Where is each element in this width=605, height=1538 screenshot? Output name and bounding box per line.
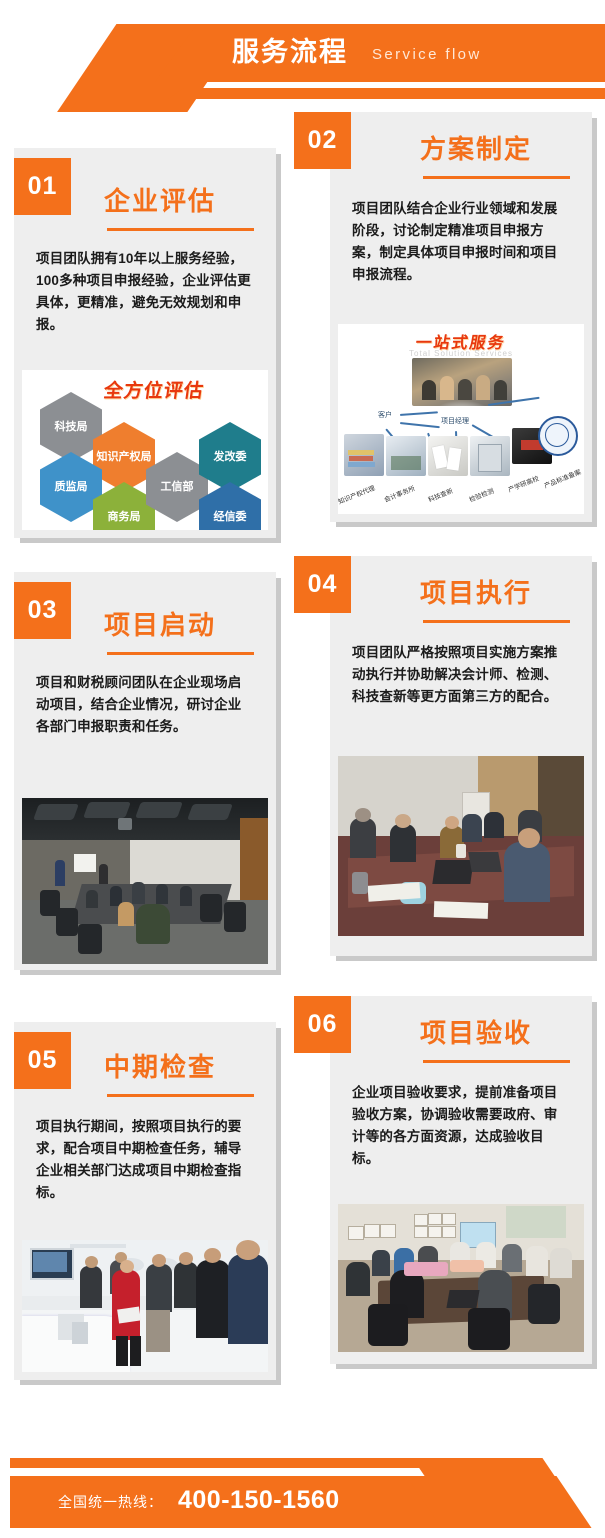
photo-site-inspection (22, 1240, 268, 1372)
hotline-phone[interactable]: 400-150-1560 (178, 1486, 340, 1515)
one-stop-leaf-label-1: 知识产权代理 (338, 482, 376, 506)
step-badge-04: 04 (294, 556, 351, 613)
photo-execution-meeting (338, 756, 584, 936)
footer-stripe (10, 1458, 450, 1468)
service-flow-infographic: 服务流程 Service flow 企业评估 项目团队拥有10年以上服务经验，1… (0, 0, 605, 1538)
card-rule-06 (423, 1060, 570, 1063)
card-body-06: 企业项目验收要求，提前准备项目验收方案，协调验收需要政府、审计等的各方面资源，达… (352, 1082, 570, 1170)
page-title: 服务流程 (232, 36, 348, 68)
one-stop-leaf-label-4: 检验检测 (467, 485, 495, 504)
card-rule-01 (107, 228, 254, 231)
card-title-02: 方案制定 (420, 134, 532, 164)
hexagon-node-kejiju: 科技局 (40, 392, 102, 462)
one-stop-certification-seal (538, 416, 578, 456)
card-title-01: 企业评估 (104, 186, 216, 216)
one-stop-leaf-photo-3 (428, 436, 468, 476)
card-title-05: 中期检查 (104, 1052, 216, 1082)
step-badge-01: 01 (14, 158, 71, 215)
step-badge-05: 05 (14, 1032, 71, 1089)
photo-acceptance-meeting (338, 1204, 584, 1352)
one-stop-service-graphic: 一站式服务 Total Solution Services 客户 项目经理 (338, 324, 584, 514)
one-stop-leaf-label-6: 产品标准备案 (542, 466, 582, 490)
hexagon-node-shangwuju: 商务局 (93, 482, 155, 530)
hexagon-assessment-graphic: 全方位评估 科技局 知识产权局 质监局 商务局 工信部 发改委 经信委 (22, 370, 268, 530)
one-stop-node-customer: 客户 (378, 410, 392, 420)
step-card-06: 项目验收 企业项目验收要求，提前准备项目验收方案，协调验收需要政府、审计等的各方… (330, 996, 592, 1364)
step-card-02: 方案制定 项目团队结合企业行业领域和发展阶段，讨论制定精准项目申报方案，制定具体… (330, 112, 592, 522)
card-rule-02 (423, 176, 570, 179)
card-rule-05 (107, 1094, 254, 1097)
hexagon-graphic-title: 全方位评估 (102, 376, 206, 403)
step-badge-02: 02 (294, 112, 351, 169)
page-footer: 全国统一热线： 400-150-1560 (0, 1418, 605, 1538)
card-body-04: 项目团队严格按照项目实施方案推动执行并协助解决会计师、检测、科技查新等更方面第三… (352, 642, 570, 708)
card-rule-03 (107, 652, 254, 655)
header-stripe (168, 88, 605, 99)
one-stop-node-manager: 项目经理 (441, 416, 469, 426)
one-stop-leaf-photo-1 (344, 434, 384, 476)
step-badge-06: 06 (294, 996, 351, 1053)
card-title-04: 项目执行 (420, 578, 532, 608)
card-body-02: 项目团队结合企业行业领域和发展阶段，讨论制定精准项目申报方案，制定具体项目申报时… (352, 198, 570, 286)
step-badge-03: 03 (14, 582, 71, 639)
page-subtitle: Service flow (372, 44, 482, 66)
card-title-06: 项目验收 (420, 1018, 532, 1048)
hexagon-node-zhijianju: 质监局 (40, 452, 102, 522)
hexagon-node-fagaiwei: 发改委 (199, 422, 261, 492)
one-stop-leaf-label-2: 会计事务所 (382, 483, 416, 504)
one-stop-leaf-label-5: 产学研高校 (506, 473, 540, 494)
card-body-05: 项目执行期间，按照项目执行的要求，配合项目中期检查任务，辅导企业相关部门达成项目… (36, 1116, 254, 1204)
card-body-03: 项目和财税顾问团队在企业现场启动项目，结合企业情况，研讨企业各部门申报职责和任务… (36, 672, 254, 738)
photo-kickoff-meeting (22, 798, 268, 964)
hexagon-node-zhishichanquanju: 知识产权局 (93, 422, 155, 492)
step-card-04: 项目执行 项目团队严格按照项目实施方案推动执行并协助解决会计师、检测、科技查新等… (330, 556, 592, 956)
hexagon-node-jingxinwei: 经信委 (199, 482, 261, 530)
one-stop-leaf-label-3: 科技查新 (426, 485, 454, 504)
one-stop-leaf-photo-2 (386, 436, 426, 476)
card-title-03: 项目启动 (104, 610, 216, 640)
one-stop-center-photo (412, 358, 512, 406)
one-stop-leaf-photo-4 (470, 436, 510, 476)
hotline-label: 全国统一热线： (58, 1492, 163, 1512)
card-rule-04 (423, 620, 570, 623)
hexagon-node-gongxinbu: 工信部 (146, 452, 208, 522)
page-header: 服务流程 Service flow (0, 0, 605, 112)
one-stop-subtitle: Total Solution Services (338, 349, 584, 358)
card-body-01: 项目团队拥有10年以上服务经验，100多种项目申报经验，企业评估更具体，更精准，… (36, 248, 254, 336)
